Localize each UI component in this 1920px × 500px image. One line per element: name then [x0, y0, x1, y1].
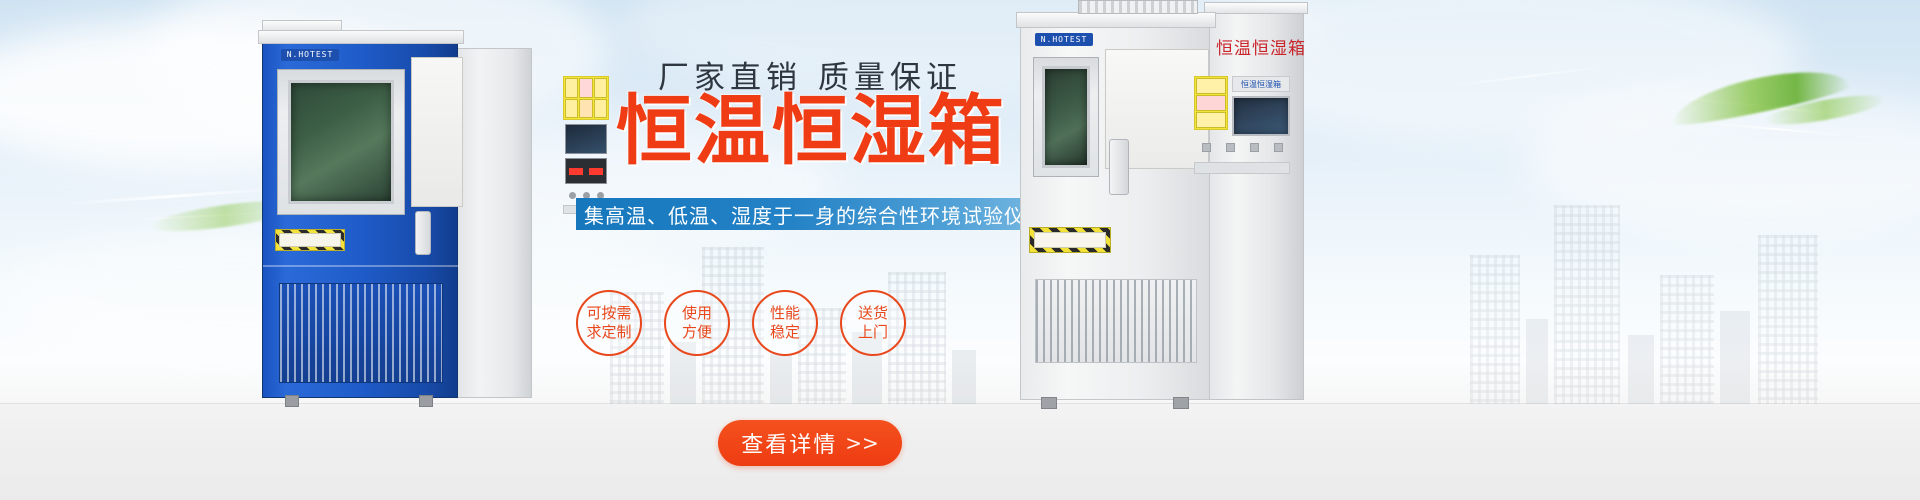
- badge-line-2: 上门: [858, 323, 888, 342]
- right-unit-side-cabinet-top: [1204, 2, 1308, 14]
- feature-badge-easy-use[interactable]: 使用 方便: [664, 290, 730, 356]
- badge-line-2: 方便: [682, 323, 712, 342]
- right-unit-keypad: [1194, 136, 1290, 158]
- product-image-left: N.HOTEST: [262, 30, 532, 398]
- banner-subtitle-bar: 集高温、低温、湿度于一身的综合性环境试验仪器: [576, 198, 1054, 230]
- right-unit-title-text: 恒温恒湿箱: [1216, 34, 1306, 59]
- banner-text-column: 厂家直销质量保证 恒温恒湿箱 集高温、低温、湿度于一身的综合性环境试验仪器 可按…: [560, 0, 1060, 500]
- right-unit-viewport-window: [1042, 66, 1090, 168]
- right-unit-panel-nameplate: 恒温恒湿箱: [1232, 76, 1290, 92]
- feature-badge-stable-performance[interactable]: 性能 稳定: [752, 290, 818, 356]
- right-unit-side-cabinet: [1208, 12, 1304, 400]
- badge-line-1: 可按需: [586, 304, 631, 323]
- left-unit-door-handle: [415, 211, 431, 255]
- right-unit-info-plate: [1194, 162, 1290, 174]
- badge-line-1: 使用: [682, 304, 712, 323]
- left-unit-viewport-window: [288, 80, 394, 204]
- feature-badge-row: 可按需 求定制 使用 方便 性能 稳定 送货 上门: [576, 290, 1054, 356]
- right-unit-foot: [1173, 397, 1189, 409]
- feature-badge-custom[interactable]: 可按需 求定制: [576, 290, 642, 356]
- left-unit-side-cabinet: [452, 48, 532, 398]
- right-unit-top-cap: [1016, 12, 1216, 28]
- badge-line-1: 送货: [858, 304, 888, 323]
- banner-headline: 恒温恒湿箱: [556, 88, 1066, 174]
- right-unit-ventilation-grille: [1035, 279, 1197, 363]
- product-image-right: N.HOTEST 恒温恒湿箱 恒温恒湿箱: [1020, 8, 1310, 400]
- left-unit-brand-badge: N.HOTEST: [281, 49, 339, 61]
- right-unit-warning-label: [1194, 76, 1228, 130]
- badge-line-2: 稳定: [770, 323, 800, 342]
- left-unit-top-cap: [258, 30, 464, 44]
- left-unit-ventilation-grille: [279, 283, 443, 383]
- skyline-decoration: [1470, 175, 1830, 405]
- left-unit-foot: [419, 395, 433, 407]
- banner-subtitle-text: 集高温、低温、湿度于一身的综合性环境试验仪器: [584, 200, 1046, 229]
- left-unit-control-panel: [411, 57, 463, 207]
- cta-label: 查看详情: [741, 427, 837, 459]
- view-details-button[interactable]: 查看详情 >>: [718, 420, 902, 466]
- right-unit-hazard-label: [1034, 232, 1106, 248]
- right-unit-top-vent: [1078, 0, 1198, 14]
- badge-line-2: 求定制: [586, 323, 631, 342]
- right-unit-display-screen: [1232, 96, 1290, 136]
- left-unit-panel-seam: [263, 265, 459, 267]
- chevron-double-right-icon: >>: [845, 431, 879, 455]
- right-unit-foot: [1041, 397, 1057, 409]
- left-unit-door: [277, 69, 405, 215]
- promo-banner: N.HOTEST 厂家直: [0, 0, 1920, 500]
- right-unit-door: [1033, 57, 1099, 177]
- left-unit-hazard-label: [279, 233, 341, 247]
- badge-line-1: 性能: [770, 304, 800, 323]
- left-unit-foot: [285, 395, 299, 407]
- right-unit-brand-badge: N.HOTEST: [1035, 33, 1093, 46]
- feature-badge-delivery[interactable]: 送货 上门: [840, 290, 906, 356]
- left-unit-chamber-body: N.HOTEST: [262, 42, 458, 398]
- right-unit-door-handle: [1109, 139, 1129, 195]
- right-unit-chamber-body: N.HOTEST 恒温恒湿箱: [1020, 26, 1210, 400]
